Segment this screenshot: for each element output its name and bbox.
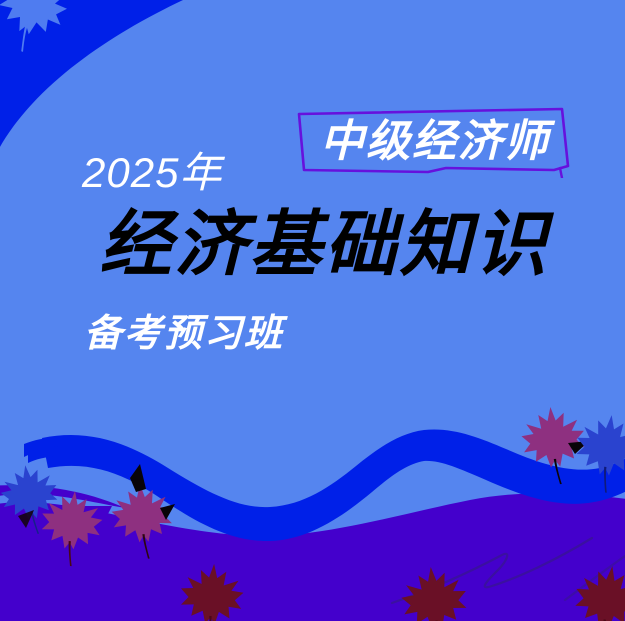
background-artwork <box>0 0 625 621</box>
poster-canvas: 2025年 中级经济师 经济基础知识 备考预习班 <box>0 0 625 621</box>
